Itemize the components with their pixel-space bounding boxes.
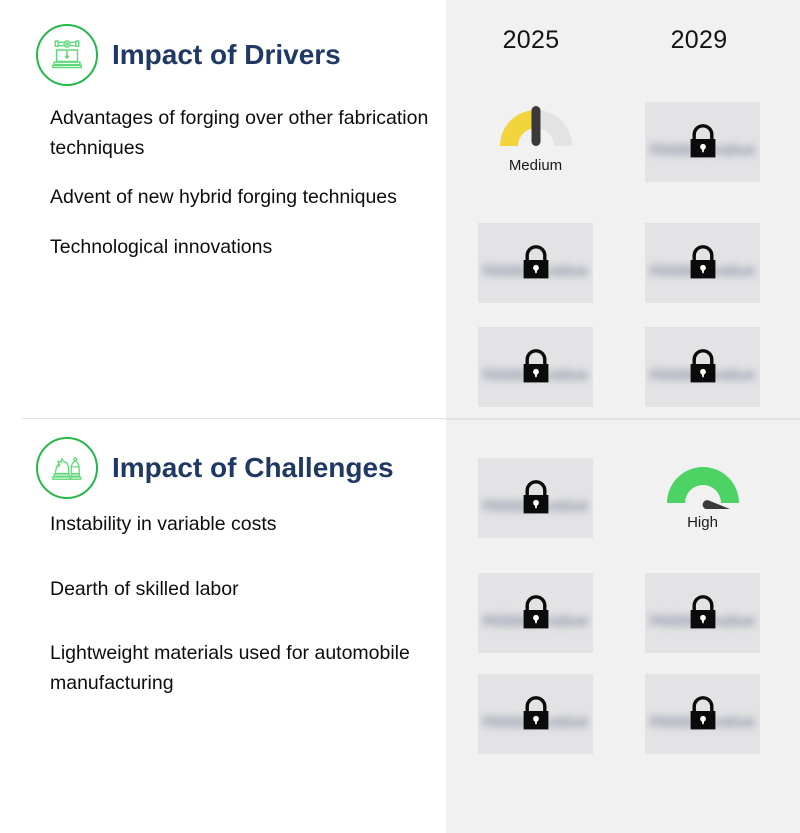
lock-icon [519,347,553,387]
challenges-item-list: Instability in variable costs Dearth of … [50,510,440,734]
panel-section-divider [446,418,800,420]
cell-challenges-2029-row3[interactable]: Hidden value [645,674,760,754]
lock-icon [686,347,720,387]
cell-drivers-2025-row1[interactable]: Medium [478,98,593,178]
cell-drivers-2025-row2[interactable]: Hidden value [478,223,593,303]
gauge-high: High [645,455,760,535]
lock-icon [686,593,720,633]
cell-drivers-2029-row1[interactable]: Hidden value [645,102,760,182]
left-section-divider [22,418,446,419]
impact-matrix-page: 2025 2029 [0,0,800,833]
lock-icon [686,694,720,734]
list-item: Lightweight materials used for automobil… [50,639,440,698]
cell-challenges-2025-row3[interactable]: Hidden value [478,674,593,754]
section-title-challenges: Impact of Challenges [112,452,394,484]
lock-icon [519,478,553,518]
list-item: Advent of new hybrid forging techniques [50,183,440,213]
section-challenges: Impact of Challenges [0,433,446,503]
lock-icon [519,694,553,734]
section-drivers: Impact of Drivers [0,20,446,90]
forging-machine-icon [36,24,98,86]
list-item: Dearth of skilled labor [50,575,440,605]
cell-drivers-2029-row3[interactable]: Hidden value [645,327,760,407]
cell-challenges-2025-row1[interactable]: Hidden value [478,458,593,538]
column-header-2029: 2029 [634,26,764,55]
drivers-item-list: Advantages of forging over other fabrica… [50,104,440,283]
lock-icon [519,593,553,633]
list-item: Instability in variable costs [50,510,440,540]
section-header-drivers: Impact of Drivers [0,20,446,90]
lock-icon [686,122,720,162]
cell-challenges-2029-row2[interactable]: Hidden value [645,573,760,653]
column-header-2025: 2025 [466,26,596,55]
gauge-label: Medium [478,157,593,174]
cell-challenges-2029-row1[interactable]: High [645,455,760,535]
gauge-dial-icon [494,100,578,152]
lock-icon [686,243,720,283]
gauge-medium: Medium [478,98,593,178]
cell-drivers-2025-row3[interactable]: Hidden value [478,327,593,407]
lock-icon [519,243,553,283]
cell-challenges-2025-row2[interactable]: Hidden value [478,573,593,653]
cell-drivers-2029-row2[interactable]: Hidden value [645,223,760,303]
section-header-challenges: Impact of Challenges [0,433,446,503]
gauge-dial-icon [661,457,745,509]
section-title-drivers: Impact of Drivers [112,39,341,71]
list-item: Advantages of forging over other fabrica… [50,104,440,163]
chess-pieces-icon [36,437,98,499]
list-item: Technological innovations [50,233,440,263]
gauge-label: High [645,514,760,531]
